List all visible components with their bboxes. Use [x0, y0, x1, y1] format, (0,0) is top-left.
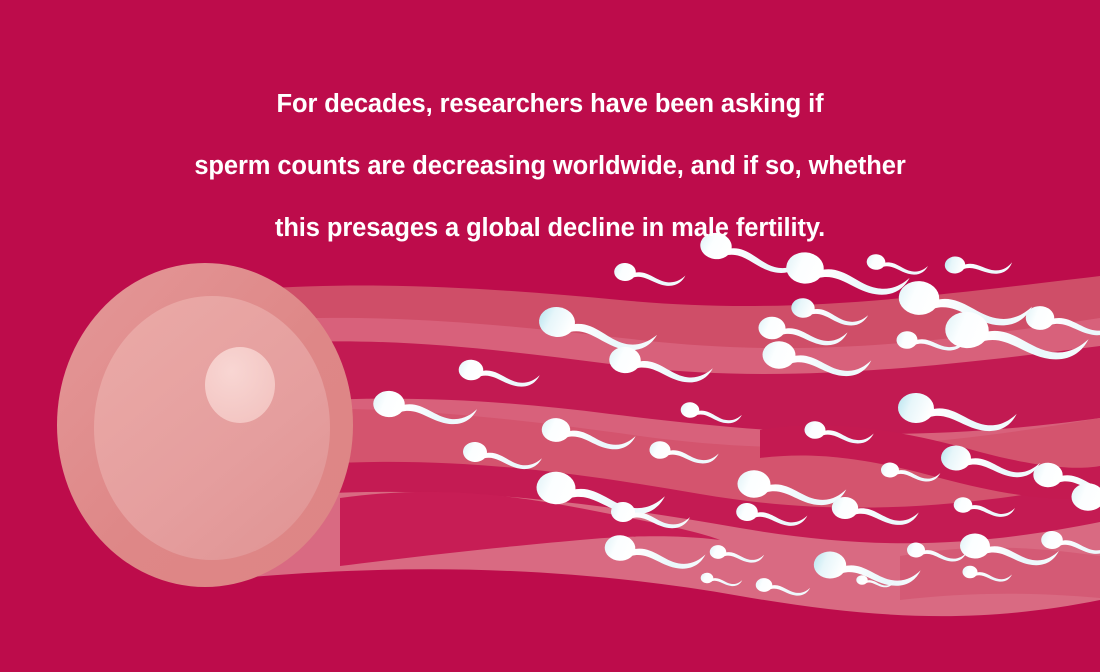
wave-wisp-2 [900, 548, 1100, 600]
page-title: For decades, researchers have been askin… [0, 58, 1100, 275]
egg-cytoplasm [94, 296, 330, 560]
headline-line-1: For decades, researchers have been askin… [0, 89, 1100, 120]
headline-line-3: this presages a global decline in male f… [0, 213, 1100, 244]
egg-cell-group [57, 263, 353, 587]
illustration-canvas: For decades, researchers have been askin… [0, 0, 1100, 672]
egg-nucleus [205, 347, 275, 423]
headline-line-2: sperm counts are decreasing worldwide, a… [0, 151, 1100, 182]
